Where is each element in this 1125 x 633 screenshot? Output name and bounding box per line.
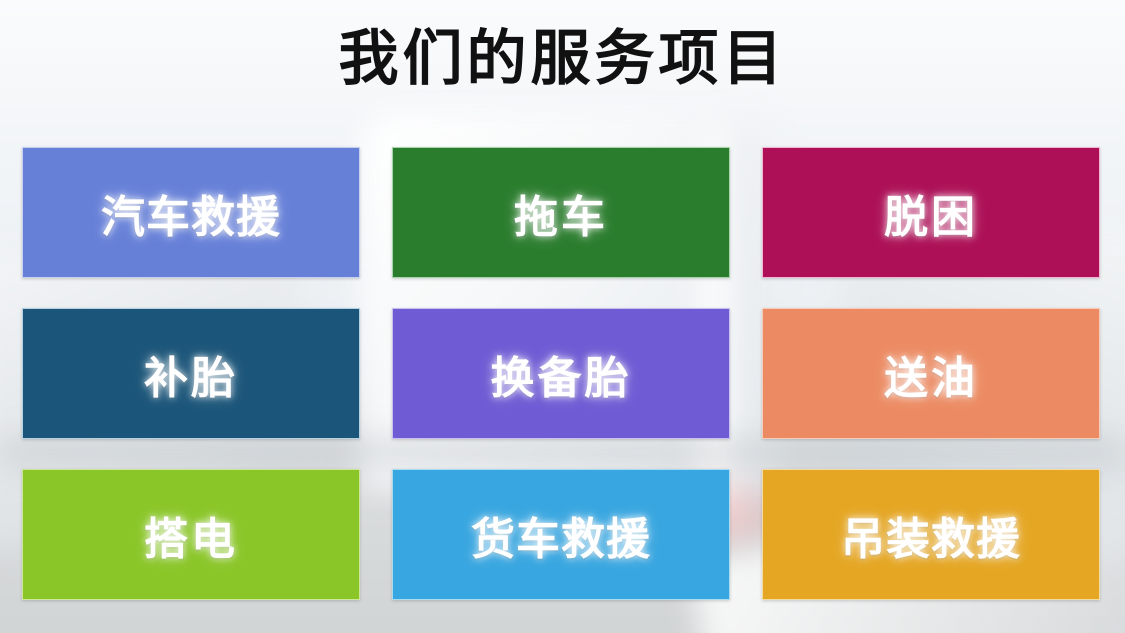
- service-tile-spare-tire[interactable]: 换备胎: [392, 308, 730, 439]
- service-tile-tow-truck[interactable]: 拖车: [392, 147, 730, 278]
- service-label: 汽车救援: [101, 181, 281, 245]
- service-label: 脱困: [884, 181, 978, 245]
- service-grid: 汽车救援 拖车 脱困 补胎 换备胎 送油 搭电 货车救援 吊装救援: [22, 147, 1105, 600]
- service-tile-tire-repair[interactable]: 补胎: [22, 308, 360, 439]
- service-poster: 我们的服务项目 汽车救援 拖车 脱困 补胎 换备胎 送油 搭电 货车救援 吊装救…: [0, 0, 1125, 633]
- service-label: 搭电: [144, 503, 238, 567]
- service-tile-hoist-rescue[interactable]: 吊装救援: [762, 469, 1100, 600]
- service-tile-truck-rescue[interactable]: 货车救援: [392, 469, 730, 600]
- service-label: 吊装救援: [841, 503, 1021, 567]
- service-label: 换备胎: [491, 342, 632, 406]
- service-tile-extrication[interactable]: 脱困: [762, 147, 1100, 278]
- service-label: 货车救援: [471, 503, 651, 567]
- service-tile-fuel-delivery[interactable]: 送油: [762, 308, 1100, 439]
- service-label: 拖车: [514, 181, 608, 245]
- service-tile-car-rescue[interactable]: 汽车救援: [22, 147, 360, 278]
- page-title: 我们的服务项目: [0, 16, 1125, 102]
- service-label: 补胎: [144, 342, 238, 406]
- service-tile-jump-start[interactable]: 搭电: [22, 469, 360, 600]
- service-label: 送油: [884, 342, 978, 406]
